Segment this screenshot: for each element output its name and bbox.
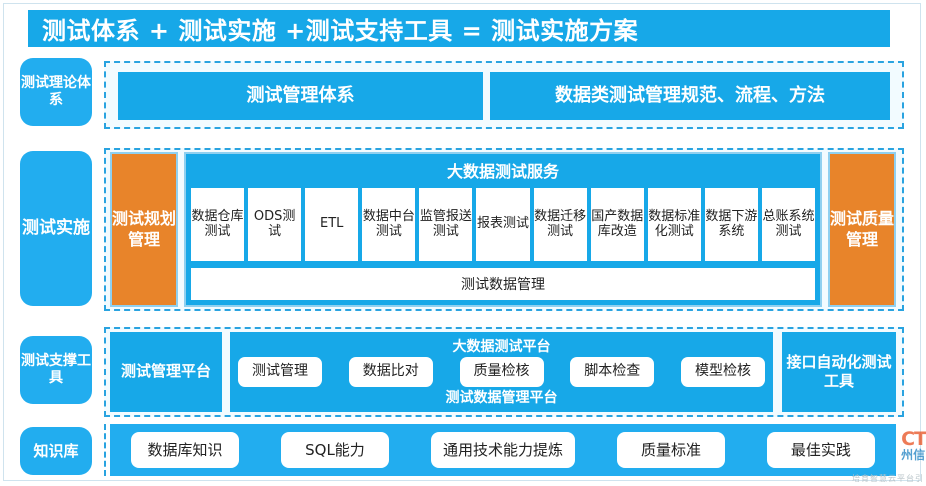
knowledge-pill[interactable]: 通用技术能力提炼 — [431, 432, 575, 468]
service-cell[interactable]: ODS测试 — [248, 188, 301, 261]
quality-management-box[interactable]: 测试质量管理 — [828, 152, 896, 307]
service-cell[interactable]: 国产数据库改造 — [591, 188, 644, 261]
platform-pill[interactable]: 数据比对 — [349, 357, 433, 387]
test-management-platform-label: 测试管理平台 — [121, 362, 211, 382]
planning-management-box[interactable]: 测试规划管理 — [110, 152, 178, 307]
watermark-footer-text: 培育智慧云平台引 — [852, 473, 924, 484]
service-cell[interactable]: 数据下游系统 — [705, 188, 758, 261]
service-cell[interactable]: 数据仓库测试 — [191, 188, 244, 261]
service-cell[interactable]: 监管报送测试 — [419, 188, 472, 261]
platform-pill[interactable]: 测试管理 — [238, 357, 322, 387]
test-management-platform-box[interactable]: 测试管理平台 — [110, 332, 222, 412]
service-cell[interactable]: 数据标准化测试 — [648, 188, 701, 261]
service-cell[interactable]: 总账系统测试 — [762, 188, 815, 261]
sidebar-item-implementation-label: 测试实施 — [22, 218, 90, 239]
knowledge-pill[interactable]: 最佳实践 — [767, 432, 875, 468]
sidebar-item-theory-label: 测试理论体系 — [20, 75, 92, 110]
knowledge-separator — [104, 424, 106, 476]
platform-pill[interactable]: 脚本检查 — [570, 357, 654, 387]
interface-automation-tool-label: 接口自动化测试工具 — [782, 353, 896, 392]
knowledge-pill[interactable]: SQL能力 — [281, 432, 389, 468]
quality-management-label: 测试质量管理 — [830, 209, 894, 251]
sidebar-item-knowledge-base[interactable]: 知识库 — [20, 427, 92, 475]
big-data-test-platform-title: 大数据测试平台 — [230, 336, 773, 356]
theory-box-management-system-label: 测试管理体系 — [247, 84, 355, 107]
theory-box-data-spec[interactable]: 数据类测试管理规范、流程、方法 — [490, 72, 890, 120]
sidebar-item-knowledge-base-label: 知识库 — [33, 442, 78, 461]
platform-pill[interactable]: 质量检核 — [460, 357, 544, 387]
service-cell-list: 数据仓库测试 ODS测试 ETL 数据中台测试 监管报送测试 报表测试 数据迁移… — [191, 188, 815, 261]
big-data-test-service-title: 大数据测试服务 — [186, 154, 820, 186]
service-cell[interactable]: 数据迁移测试 — [534, 188, 587, 261]
diagram-canvas: 测试体系 + 测试实施 +测试支持工具 = 测试实施方案 测试理论体系 测试管理… — [0, 0, 926, 486]
sidebar-item-theory[interactable]: 测试理论体系 — [20, 58, 92, 126]
test-data-management-platform-label: 测试数据管理平台 — [230, 387, 773, 407]
big-data-test-platform-panel: 大数据测试平台 测试管理 数据比对 质量检核 脚本检查 模型检核 测试数据管理平… — [230, 332, 773, 412]
test-data-management-bar[interactable]: 测试数据管理 — [191, 268, 815, 300]
knowledge-pill[interactable]: 质量标准 — [617, 432, 725, 468]
service-cell[interactable]: 报表测试 — [476, 188, 529, 261]
interface-automation-tool-box[interactable]: 接口自动化测试工具 — [782, 332, 896, 412]
knowledge-pill[interactable]: 数据库知识 — [131, 432, 239, 468]
platform-pill-list: 测试管理 数据比对 质量检核 脚本检查 模型检核 — [238, 357, 765, 387]
theory-box-data-spec-label: 数据类测试管理规范、流程、方法 — [555, 84, 825, 107]
planning-management-label: 测试规划管理 — [112, 209, 176, 251]
platform-pill[interactable]: 模型检核 — [681, 357, 765, 387]
service-cell[interactable]: 数据中台测试 — [362, 188, 415, 261]
theory-box-management-system[interactable]: 测试管理体系 — [118, 72, 483, 120]
knowledge-base-panel: 数据库知识 SQL能力 通用技术能力提炼 质量标准 最佳实践 — [110, 424, 896, 476]
sidebar-item-implementation[interactable]: 测试实施 — [20, 151, 92, 306]
big-data-test-service-panel: 大数据测试服务 数据仓库测试 ODS测试 ETL 数据中台测试 监管报送测试 报… — [184, 152, 822, 307]
diagram-title-bar: 测试体系 + 测试实施 +测试支持工具 = 测试实施方案 — [28, 10, 890, 47]
service-cell[interactable]: ETL — [305, 188, 358, 261]
sidebar-item-support-tools[interactable]: 测试支撑工具 — [20, 336, 92, 404]
sidebar-item-support-tools-label: 测试支撑工具 — [20, 353, 92, 388]
page-title: 测试体系 + 测试实施 +测试支持工具 = 测试实施方案 — [42, 11, 638, 46]
